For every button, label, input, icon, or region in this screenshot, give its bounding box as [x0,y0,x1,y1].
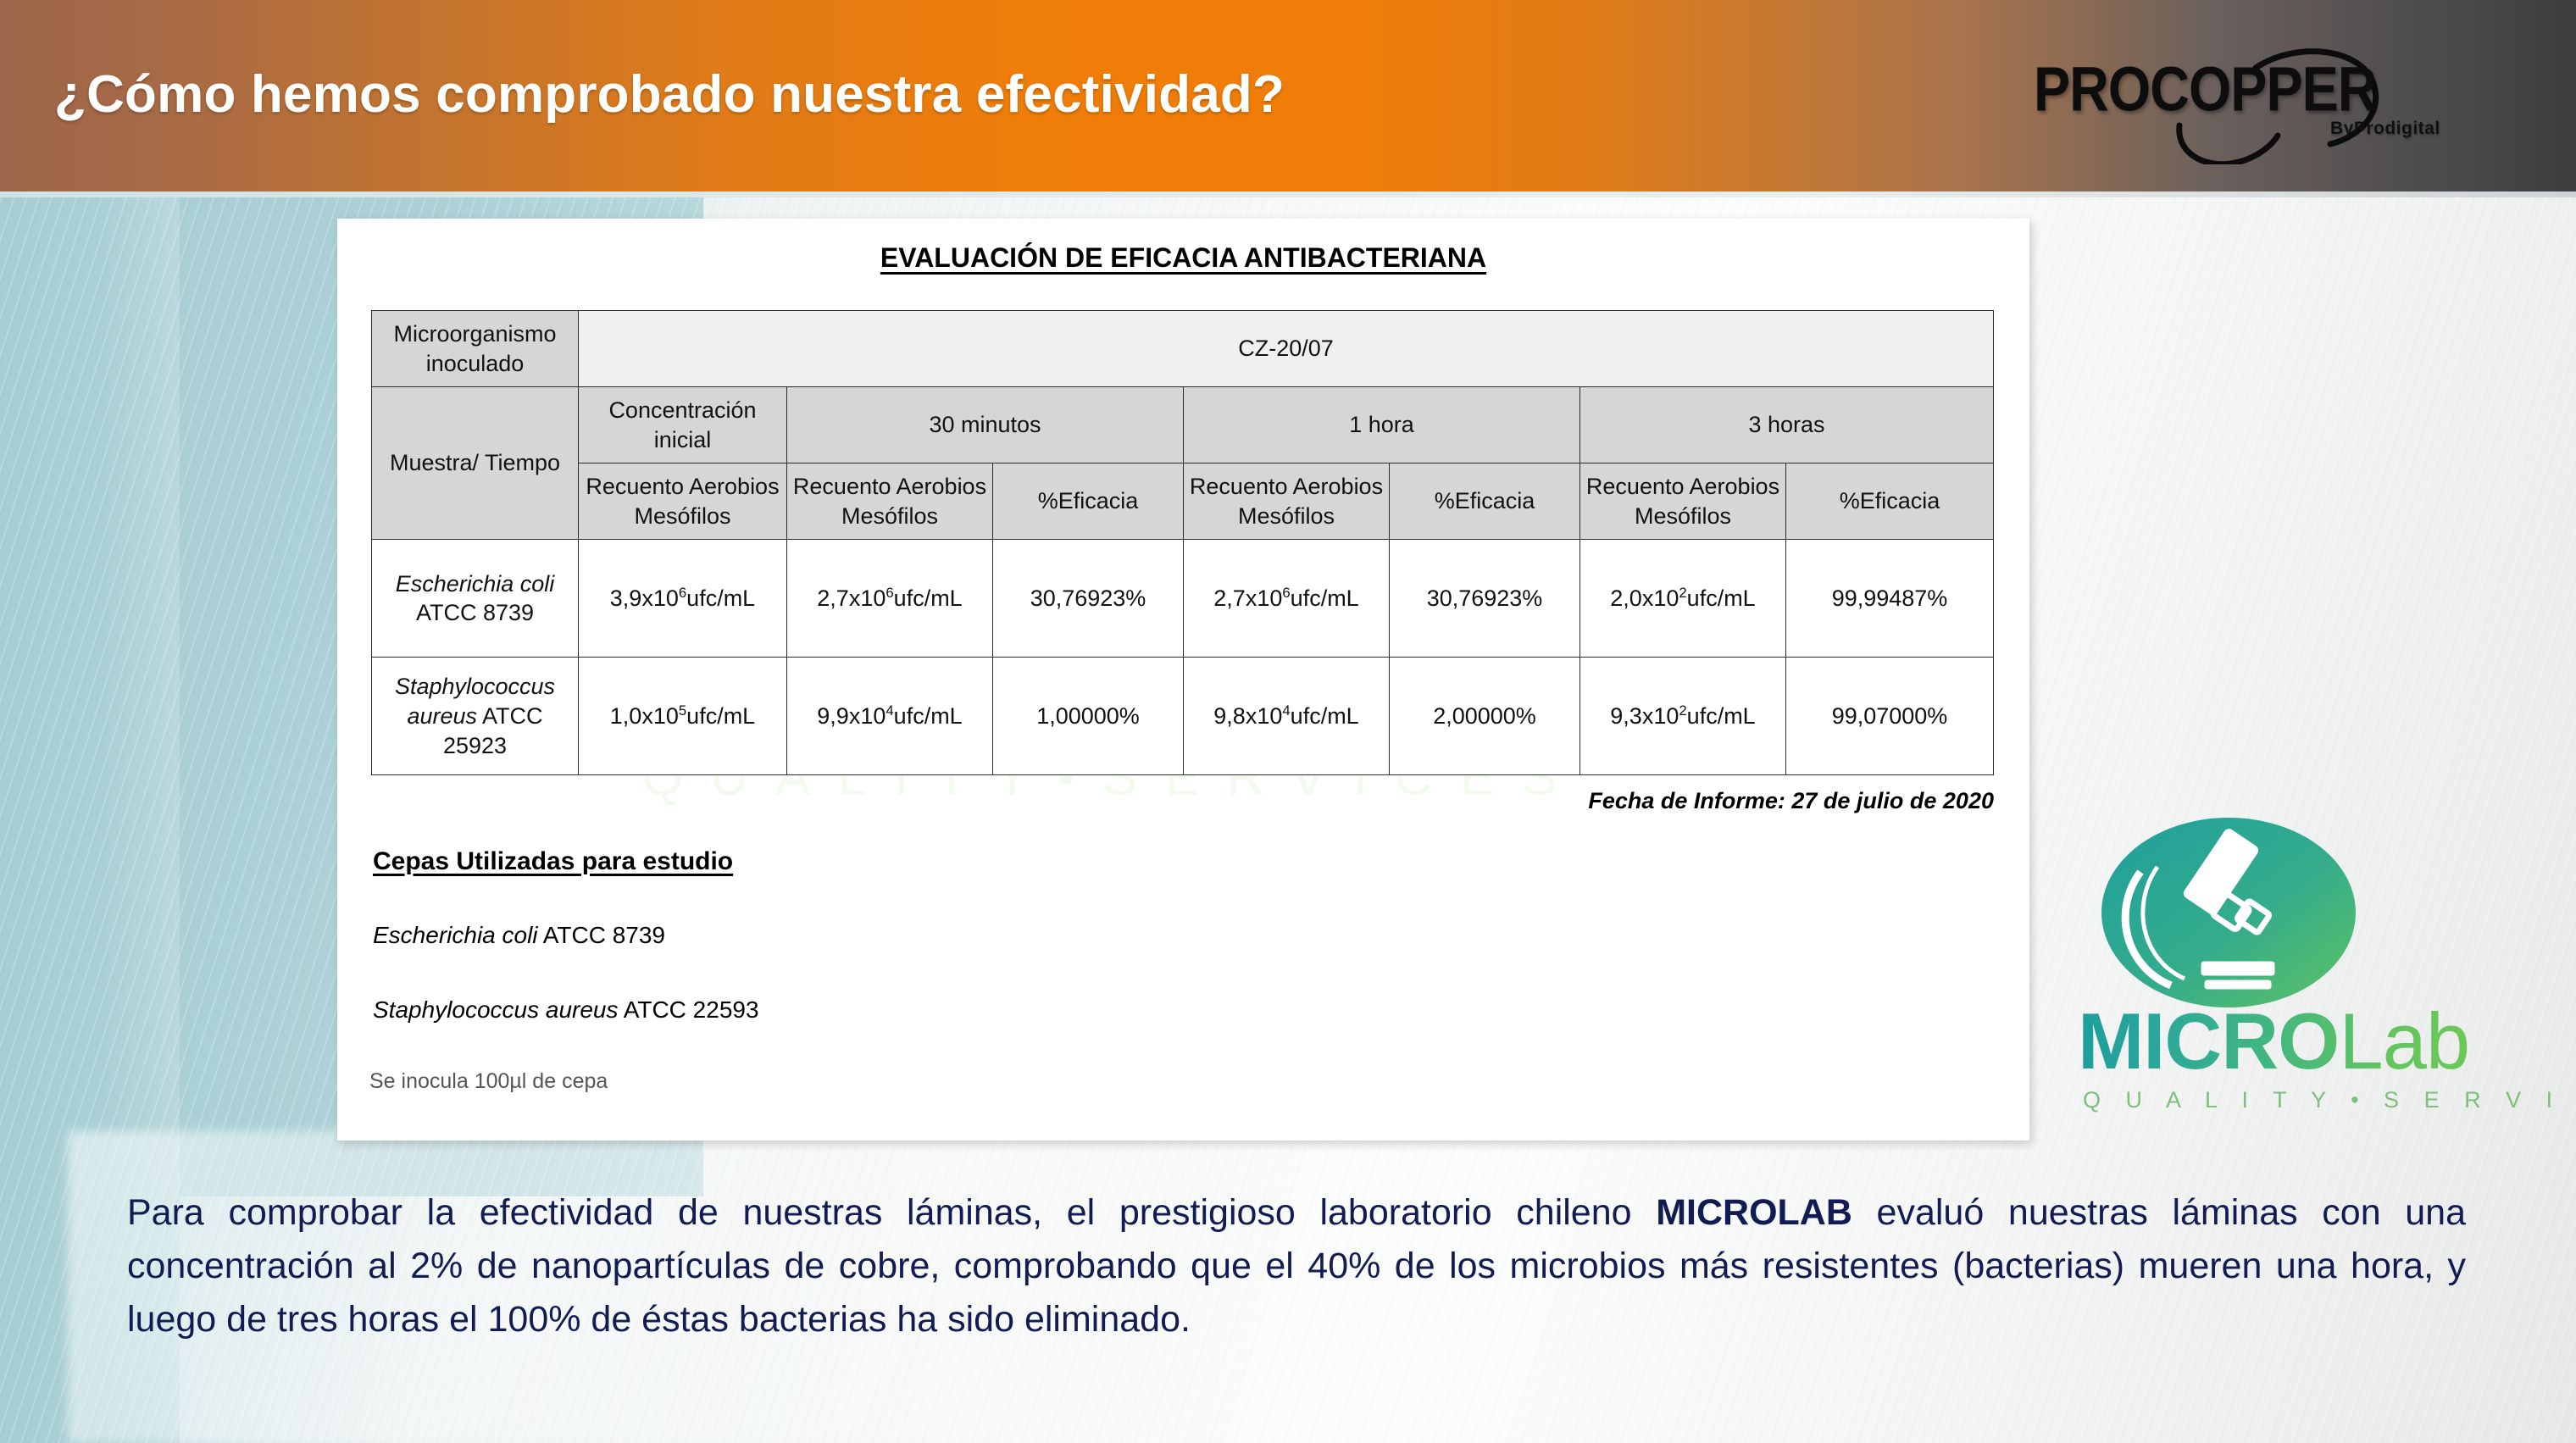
microlab-wordmark: MICROLab [2078,996,2469,1087]
inoculum-note: Se inocula 100µl de cepa [369,1069,608,1094]
value-mantissa: 2,7x10 [1213,586,1282,611]
value-mantissa: 9,9x10 [817,703,885,729]
header-30-minutes: 30 minutos [787,387,1184,463]
header-count-30m: Recuento Aerobios Mesófilos [787,463,993,540]
value-exponent: 6 [885,585,893,601]
header-count-initial: Recuento Aerobios Mesófilos [579,463,787,540]
value-mantissa: 1,0x10 [610,703,679,729]
table-row-top-header: Microorganismo inoculado CZ-20/07 [372,311,1994,387]
strain-item-1: Escherichia coli ATCC 8739 [373,922,665,949]
value-unit: ufc/mL [686,586,755,611]
table-row-sub-header: Recuento Aerobios Mesófilos Recuento Aer… [372,463,1994,540]
strain-code: ATCC 8739 [538,922,665,948]
microlab-logo: MICROLab Q U A L I T Y • S E R V I C E S [2059,818,2534,1148]
page-title: ¿Cómo hemos comprobado nuestra efectivid… [54,64,1285,125]
value-mantissa: 2,7x10 [817,586,885,611]
value-mantissa: 3,9x10 [610,586,679,611]
table-row-time-header: Muestra/ Tiempo Concentración inicial 30… [372,387,1994,463]
organism-strain: ATCC 8739 [416,600,534,625]
header-sample-code: CZ-20/07 [579,311,1994,387]
procopper-logo: PROCOPPER ByProdigital [1940,37,2466,164]
value-mantissa: 9,3x10 [1610,703,1679,729]
header-1-hour: 1 hora [1184,387,1580,463]
slide: ¿Cómo hemos comprobado nuestra efectivid… [0,0,2576,1443]
cell-organism: Escherichia coli ATCC 8739 [372,540,579,658]
strain-name: Escherichia coli [373,922,538,948]
strains-heading: Cepas Utilizadas para estudio [373,847,733,876]
microscope-icon [2059,818,2398,1013]
cell-count-30m: 9,9x104ufc/mL [787,658,993,775]
value-unit: ufc/mL [1291,586,1359,611]
cell-efficacy-3h: 99,07000% [1786,658,1994,775]
organism-genus-species: Escherichia coli [396,571,555,597]
procopper-wordmark: PROCOPPER [2034,53,2376,125]
cell-organism: Staphylococcus aureus ATCC 25923 [372,658,579,775]
procopper-tagline: ByProdigital [2330,119,2440,139]
value-exponent: 4 [1282,702,1290,719]
table-row: Escherichia coli ATCC 8739 3,9x106ufc/mL… [372,540,1994,658]
cell-count-1h: 9,8x104ufc/mL [1184,658,1390,775]
header-microorganism: Microorganismo inoculado [372,311,579,387]
value-unit: ufc/mL [1687,586,1756,611]
strain-name: Staphylococcus aureus [373,996,619,1023]
report-date: Fecha de Informe: 27 de julio de 2020 [1588,788,1994,814]
cell-count-1h: 2,7x106ufc/mL [1184,540,1390,658]
microlab-word-lab: Lab [2339,996,2469,1085]
cell-initial: 3,9x106ufc/mL [579,540,787,658]
strain-code: ATCC 22593 [619,996,759,1023]
header-count-1h: Recuento Aerobios Mesófilos [1184,463,1390,540]
cell-efficacy-30m: 1,00000% [993,658,1184,775]
value-exponent: 6 [1282,585,1290,601]
report-panel: MICRO Lab QUALITY•SERVICES EVALUACIÓN DE… [337,219,2029,1141]
value-unit: ufc/mL [894,586,963,611]
strain-item-2: Staphylococcus aureus ATCC 22593 [373,996,759,1024]
summary-brand-emphasis: MICROLAB [1656,1192,1852,1233]
value-exponent: 5 [679,702,686,719]
microlab-tagline: Q U A L I T Y • S E R V I C E S [2083,1087,2576,1113]
value-exponent: 2 [1679,585,1686,601]
summary-part-1: Para comprobar la efectividad de nuestra… [127,1192,1656,1233]
value-mantissa: 2,0x10 [1610,586,1679,611]
microlab-word-micro: MICRO [2078,996,2339,1085]
cell-count-3h: 9,3x102ufc/mL [1580,658,1786,775]
header-efficacy-3h: %Eficacia [1786,463,1994,540]
value-mantissa: 9,8x10 [1213,703,1282,729]
header-count-3h: Recuento Aerobios Mesófilos [1580,463,1786,540]
cell-initial: 1,0x105ufc/mL [579,658,787,775]
value-unit: ufc/mL [686,703,755,729]
header-initial-concentration: Concentración inicial [579,387,787,463]
header-underline [0,191,2576,197]
efficacy-table: Microorganismo inoculado CZ-20/07 Muestr… [371,310,1994,775]
value-exponent: 6 [679,585,686,601]
value-unit: ufc/mL [1687,703,1756,729]
cell-count-30m: 2,7x106ufc/mL [787,540,993,658]
cell-count-3h: 2,0x102ufc/mL [1580,540,1786,658]
cell-efficacy-30m: 30,76923% [993,540,1184,658]
cell-efficacy-3h: 99,99487% [1786,540,1994,658]
value-unit: ufc/mL [1291,703,1359,729]
value-exponent: 2 [1679,702,1686,719]
header-3-hours: 3 horas [1580,387,1994,463]
value-unit: ufc/mL [894,703,963,729]
value-exponent: 4 [885,702,893,719]
header-efficacy-30m: %Eficacia [993,463,1184,540]
table-row: Staphylococcus aureus ATCC 25923 1,0x105… [372,658,1994,775]
report-title: EVALUACIÓN DE EFICACIA ANTIBACTERIANA [337,242,2029,274]
header-efficacy-1h: %Eficacia [1390,463,1580,540]
cell-efficacy-1h: 2,00000% [1390,658,1580,775]
header-sample-time: Muestra/ Tiempo [372,387,579,540]
cell-efficacy-1h: 30,76923% [1390,540,1580,658]
summary-paragraph: Para comprobar la efectividad de nuestra… [127,1186,2466,1346]
